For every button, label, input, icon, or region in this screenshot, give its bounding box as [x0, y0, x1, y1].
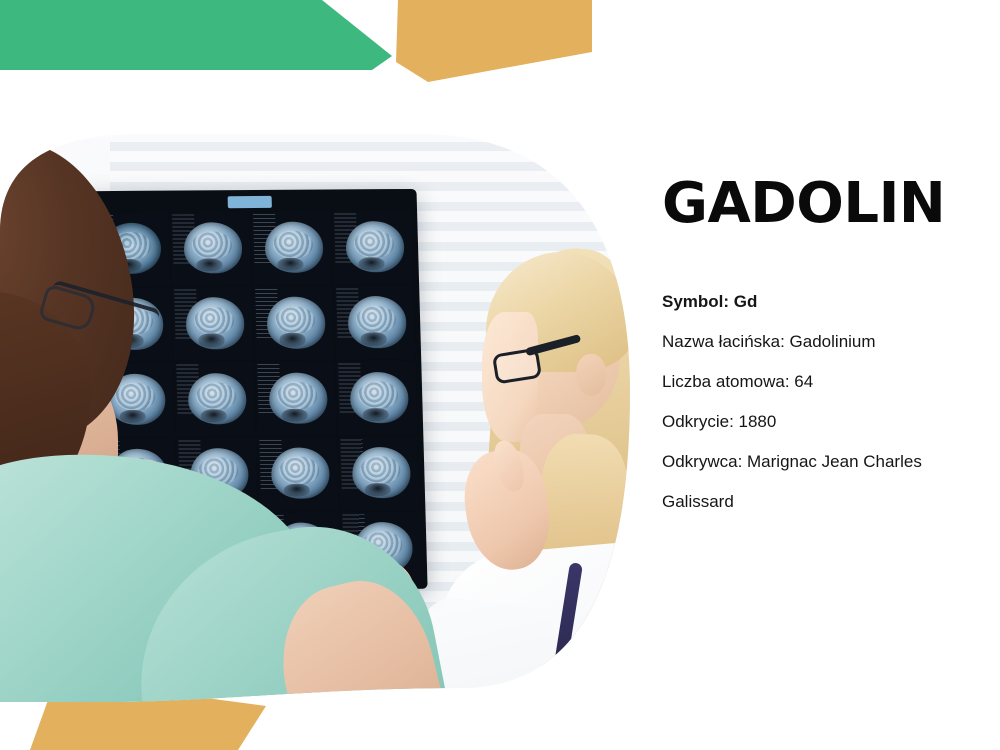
brain-scan-sagittal: [187, 373, 247, 425]
brain-scan-sagittal: [185, 298, 245, 350]
photo-background: [0, 62, 640, 702]
page-title: GADOLIN: [662, 176, 945, 232]
element-facts-list: Symbol: Gd Nazwa łacińska: Gadolinium Li…: [662, 282, 992, 522]
brain-scan-sagittal: [183, 222, 243, 274]
mri-scan-cell: [255, 362, 336, 436]
orange-top-right-shape: [396, 0, 592, 82]
brain-scan-sagittal: [268, 372, 328, 424]
fact-discovery-year: Odkrycie: 1880: [662, 402, 992, 442]
mri-scan-cell: [174, 362, 255, 436]
fact-latin-name: Nazwa łacińska: Gadolinium: [662, 322, 992, 362]
clinician-right-ear: [576, 354, 606, 396]
brain-scan-sagittal: [347, 296, 407, 348]
text-column: GADOLIN Symbol: Gd Nazwa łacińska: Gadol…: [662, 0, 992, 750]
mri-scan-cell: [336, 361, 417, 435]
slide-canvas: GADOLIN Symbol: Gd Nazwa łacińska: Gadol…: [0, 0, 1000, 750]
fact-symbol: Symbol: Gd: [662, 282, 992, 322]
mri-scan-cell: [332, 211, 413, 285]
brain-scan-sagittal: [266, 297, 326, 349]
mri-scan-cell: [334, 286, 415, 360]
fact-atomic-number: Liczba atomowa: 64: [662, 362, 992, 402]
green-top-left-shape: [0, 0, 392, 70]
mri-scan-cell: [253, 287, 334, 361]
mri-scan-cell: [338, 436, 419, 510]
clinicians-photo: [0, 62, 640, 702]
brain-scan-sagittal: [264, 222, 324, 274]
brain-scan-sagittal: [351, 447, 411, 499]
mri-scan-cell: [172, 287, 253, 361]
mri-scan-cell: [251, 212, 332, 286]
mri-scan-cell: [257, 437, 338, 511]
fact-discoverer: Odkrywca: Marignac Jean Charles Galissar…: [662, 442, 992, 522]
brain-scan-sagittal: [270, 447, 330, 499]
brain-scan-sagittal: [349, 372, 409, 424]
mri-film-label: [228, 196, 272, 208]
mri-scan-cell: [170, 212, 251, 286]
brain-scan-sagittal: [345, 221, 405, 273]
